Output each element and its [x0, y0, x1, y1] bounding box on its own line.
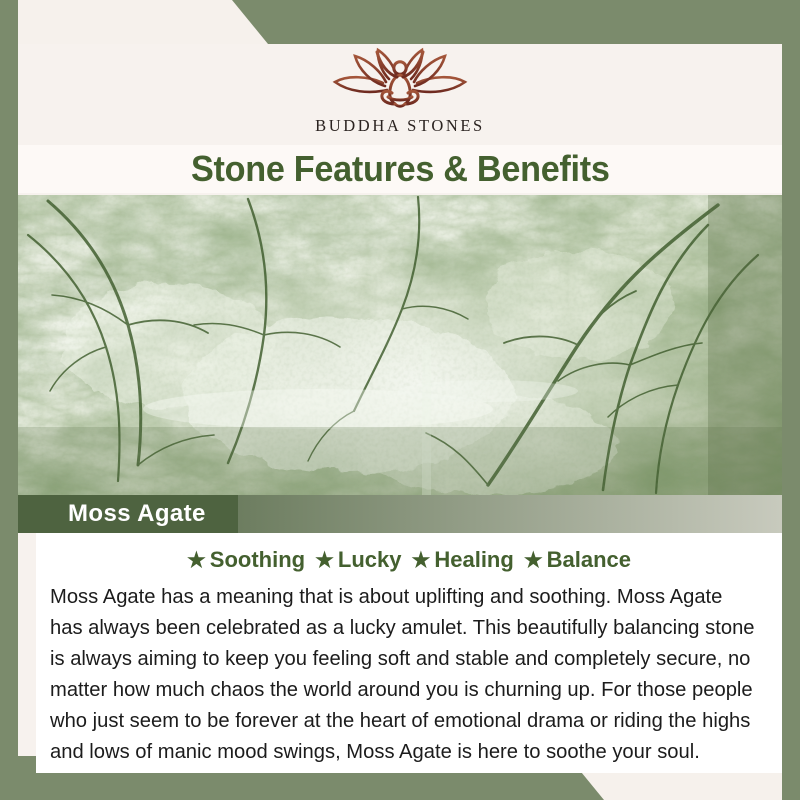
star-icon: ★: [315, 550, 334, 571]
feature-item-healing: ★ Healing: [412, 547, 524, 573]
feature-label: Healing: [434, 547, 513, 573]
stone-name-label: Moss Agate: [68, 495, 206, 533]
stone-texture-graphic: [18, 195, 782, 495]
stone-description-text: Moss Agate has a meaning that is about u…: [50, 581, 757, 767]
star-icon: ★: [412, 550, 431, 571]
feature-item-balance: ★ Balance: [524, 547, 631, 573]
stone-name-bar: Moss Agate: [18, 495, 782, 533]
title-banner: Stone Features & Benefits: [18, 145, 782, 193]
star-icon: ★: [187, 550, 206, 571]
poster-root: BUDDHA STONES Stone Features & Benefits: [0, 0, 800, 800]
decorative-band-right: [782, 0, 800, 800]
feature-label: Lucky: [338, 547, 402, 573]
description-card: ★ Soothing ★ Lucky ★ Healing ★ Balance M…: [36, 533, 782, 773]
decorative-band-left: [0, 0, 18, 800]
moss-agate-stone-photo: [18, 195, 782, 495]
page-title: Stone Features & Benefits: [191, 148, 610, 190]
feature-list: ★ Soothing ★ Lucky ★ Healing ★ Balance: [50, 545, 768, 575]
decorative-band-top: [0, 0, 800, 44]
stone-name-bar-fade: [238, 495, 782, 533]
lotus-meditation-icon: [325, 46, 475, 114]
feature-label: Balance: [547, 547, 631, 573]
brand-logo-block: BUDDHA STONES: [18, 44, 782, 144]
star-icon: ★: [524, 550, 543, 571]
feature-item-soothing: ★ Soothing: [187, 547, 315, 573]
feature-item-lucky: ★ Lucky: [315, 547, 411, 573]
page-surface: BUDDHA STONES Stone Features & Benefits: [18, 44, 782, 756]
feature-label: Soothing: [210, 547, 305, 573]
brand-name: BUDDHA STONES: [315, 116, 485, 136]
